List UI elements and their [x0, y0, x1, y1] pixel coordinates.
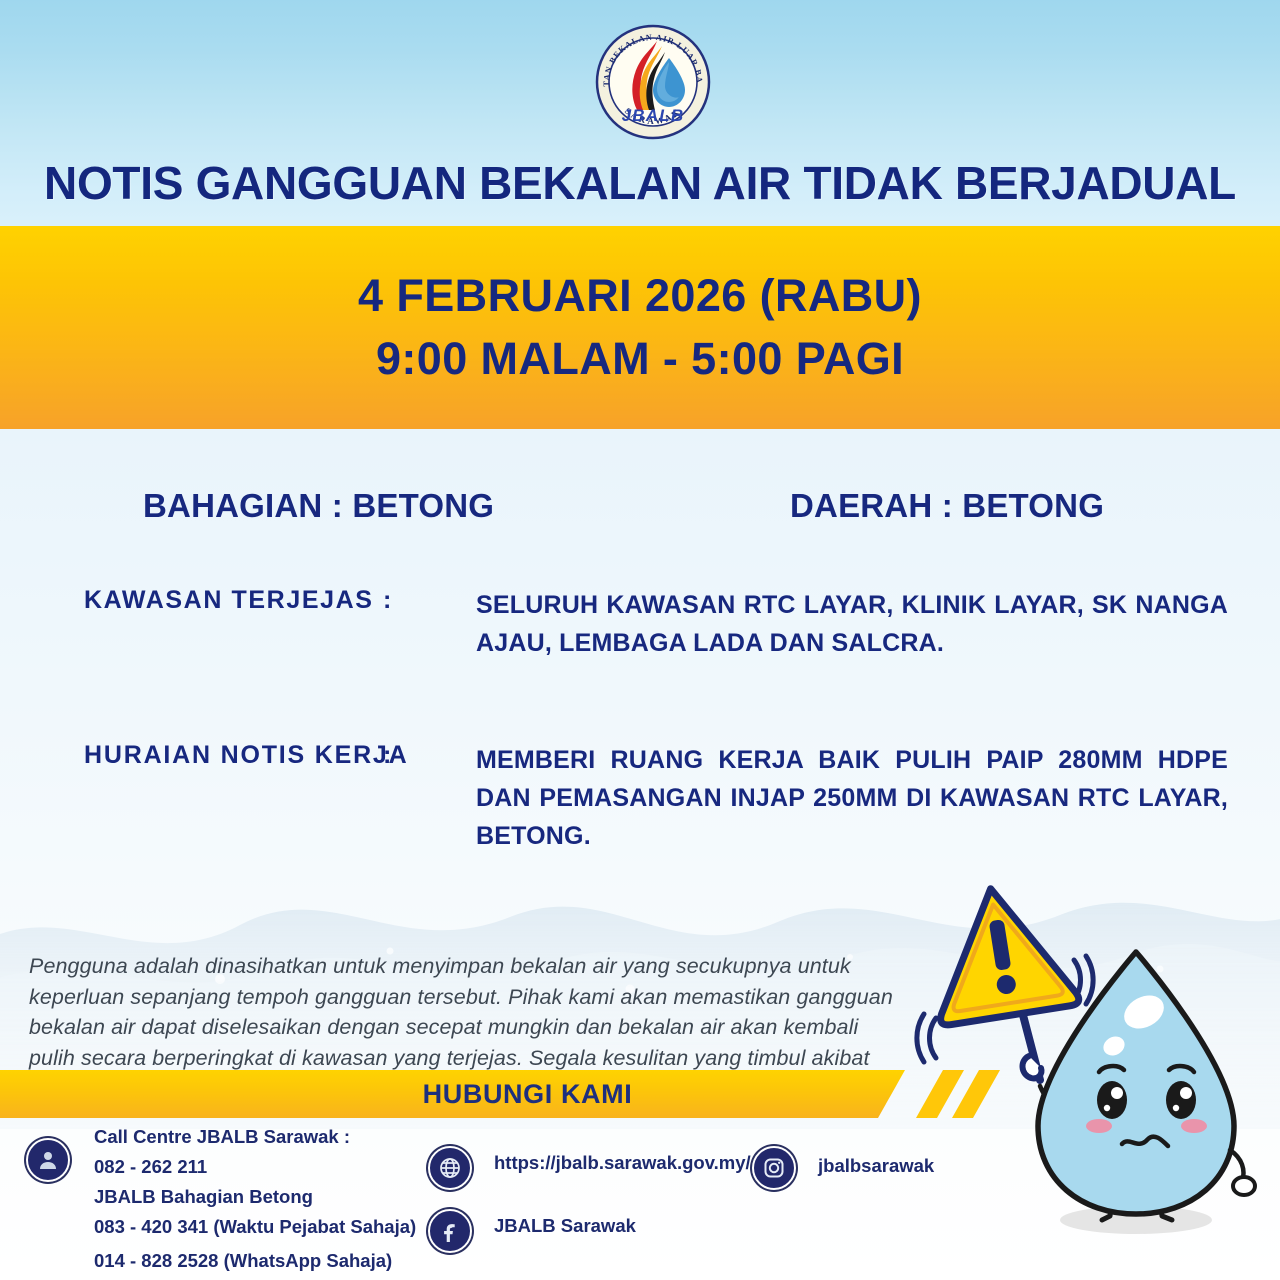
affected-areas-colon: : — [383, 586, 391, 615]
works-description-label: HURAIAN NOTIS KERJA — [84, 741, 409, 770]
facebook-handle[interactable]: JBALB Sarawak — [494, 1215, 636, 1237]
affected-areas-label: KAWASAN TERJEJAS — [84, 586, 374, 615]
person-icon — [26, 1138, 70, 1182]
water-drop-flame-logo-icon: JABATAN BEKALAN AIR LUAR BANDAR SARAWAK … — [593, 22, 713, 140]
svg-text:JBALB: JBALB — [622, 106, 685, 125]
globe-icon[interactable] — [428, 1146, 472, 1190]
instagram-icon[interactable] — [752, 1146, 796, 1190]
district-label: DAERAH : BETONG — [790, 487, 1104, 525]
website-url[interactable]: https://jbalb.sarawak.gov.my/ — [494, 1152, 751, 1174]
contact-details: Call Centre JBALB Sarawak : 082 - 262 21… — [0, 1122, 1280, 1280]
affected-areas-value: SELURUH KAWASAN RTC LAYAR, KLINIK LAYAR,… — [476, 586, 1228, 662]
contact-banner-title: HUBUNGI KAMI — [423, 1079, 633, 1110]
works-description-value: MEMBERI RUANG KERJA BAIK PULIH PAIP 280M… — [476, 741, 1228, 855]
jbalb-logo: JABATAN BEKALAN AIR LUAR BANDAR SARAWAK … — [593, 22, 713, 140]
contact-banner-shape: HUBUNGI KAMI — [0, 1070, 905, 1118]
reference-number: Ref.No: JBALB/BTG/FEB(03) — [94, 1276, 514, 1280]
contact-banner: HUBUNGI KAMI — [0, 1070, 1280, 1118]
page-title: NOTIS GANGGUAN BEKALAN AIR TIDAK BERJADU… — [0, 140, 1280, 226]
works-description-colon: : — [383, 741, 391, 770]
date-time-banner: 4 FEBRUARI 2026 (RABU) 9:00 MALAM - 5:00… — [0, 226, 1280, 429]
region-row: BAHAGIAN : BETONG DAERAH : BETONG — [0, 487, 1280, 539]
notice-time: 9:00 MALAM - 5:00 PAGI — [376, 328, 904, 390]
page-title-text: NOTIS GANGGUAN BEKALAN AIR TIDAK BERJADU… — [44, 156, 1236, 210]
notice-date: 4 FEBRUARI 2026 (RABU) — [358, 265, 922, 327]
facebook-icon[interactable] — [428, 1209, 472, 1253]
notice-poster: JABATAN BEKALAN AIR LUAR BANDAR SARAWAK … — [0, 0, 1280, 1280]
instagram-handle[interactable]: jbalbsarawak — [818, 1155, 934, 1177]
division-label: BAHAGIAN : BETONG — [143, 487, 494, 525]
